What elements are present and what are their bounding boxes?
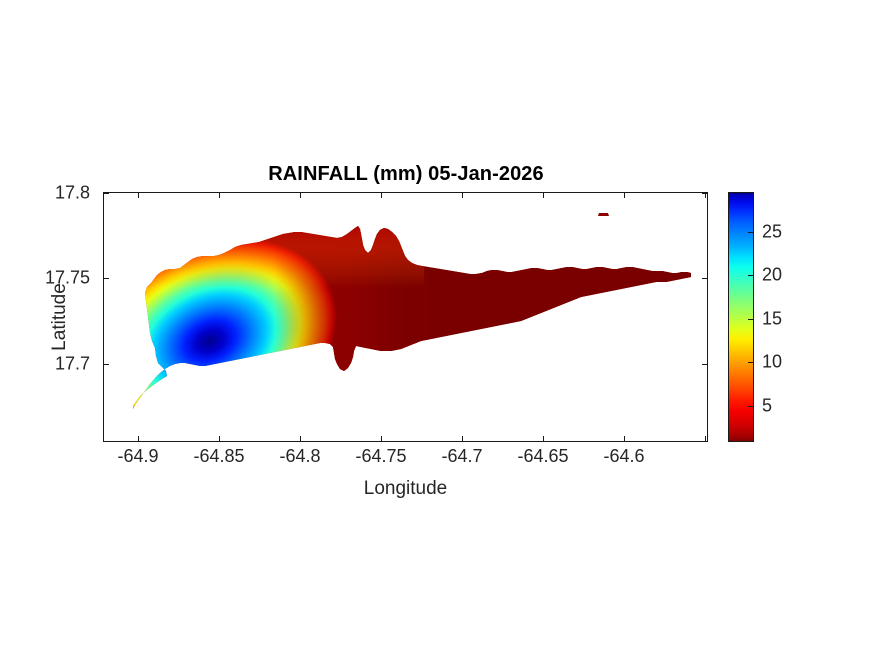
xtick-label: -64.7 (441, 446, 482, 467)
colorbar-tick (748, 232, 753, 233)
colorbar-label: 5 (762, 396, 772, 417)
y-axis-label: Latitude (49, 257, 71, 377)
xtick-label: -64.85 (193, 446, 244, 467)
xtick-mark (219, 436, 220, 442)
rainfall-raster (104, 193, 708, 442)
xtick-mark (300, 436, 301, 442)
xtick-mark (624, 436, 625, 442)
xtick-mark (381, 436, 382, 442)
xtick-label: -64.65 (517, 446, 568, 467)
xtick-mark-top (543, 192, 544, 198)
page-title: RAINFALL (mm) 05-Jan-2026 (103, 163, 709, 186)
xtick-label: -64.75 (355, 446, 406, 467)
colorbar-tick (748, 275, 753, 276)
colorbar-tick (748, 319, 753, 320)
xtick-label: -64.6 (603, 446, 644, 467)
colorbar[interactable] (728, 192, 754, 442)
figure-canvas: RAINFALL (mm) 05-Jan-2026 (0, 0, 875, 656)
colorbar-label: 10 (762, 352, 782, 373)
ytick-mark-right (702, 278, 708, 279)
ytick-mark (103, 278, 109, 279)
xtick-mark-top (462, 192, 463, 198)
xtick-mark-top (138, 192, 139, 198)
map-axes[interactable] (103, 192, 708, 442)
xtick-mark (705, 436, 706, 442)
xtick-mark-top (219, 192, 220, 198)
colorbar-tick (748, 406, 753, 407)
colorbar-tick (748, 362, 753, 363)
ytick-mark-right (702, 364, 708, 365)
xtick-mark-top (624, 192, 625, 198)
xtick-mark-top (381, 192, 382, 198)
colorbar-label: 25 (762, 222, 782, 243)
ytick-mark-right (702, 193, 708, 194)
xtick-mark (138, 436, 139, 442)
xtick-mark (543, 436, 544, 442)
ytick-mark (103, 193, 109, 194)
colorbar-label: 20 (762, 265, 782, 286)
ytick-mark (103, 364, 109, 365)
xtick-label: -64.9 (117, 446, 158, 467)
x-axis-label: Longitude (103, 478, 708, 500)
xtick-mark-top (300, 192, 301, 198)
xtick-mark (462, 436, 463, 442)
ytick-label: 17.8 (55, 183, 90, 204)
colorbar-label: 15 (762, 309, 782, 330)
xtick-label: -64.8 (279, 446, 320, 467)
